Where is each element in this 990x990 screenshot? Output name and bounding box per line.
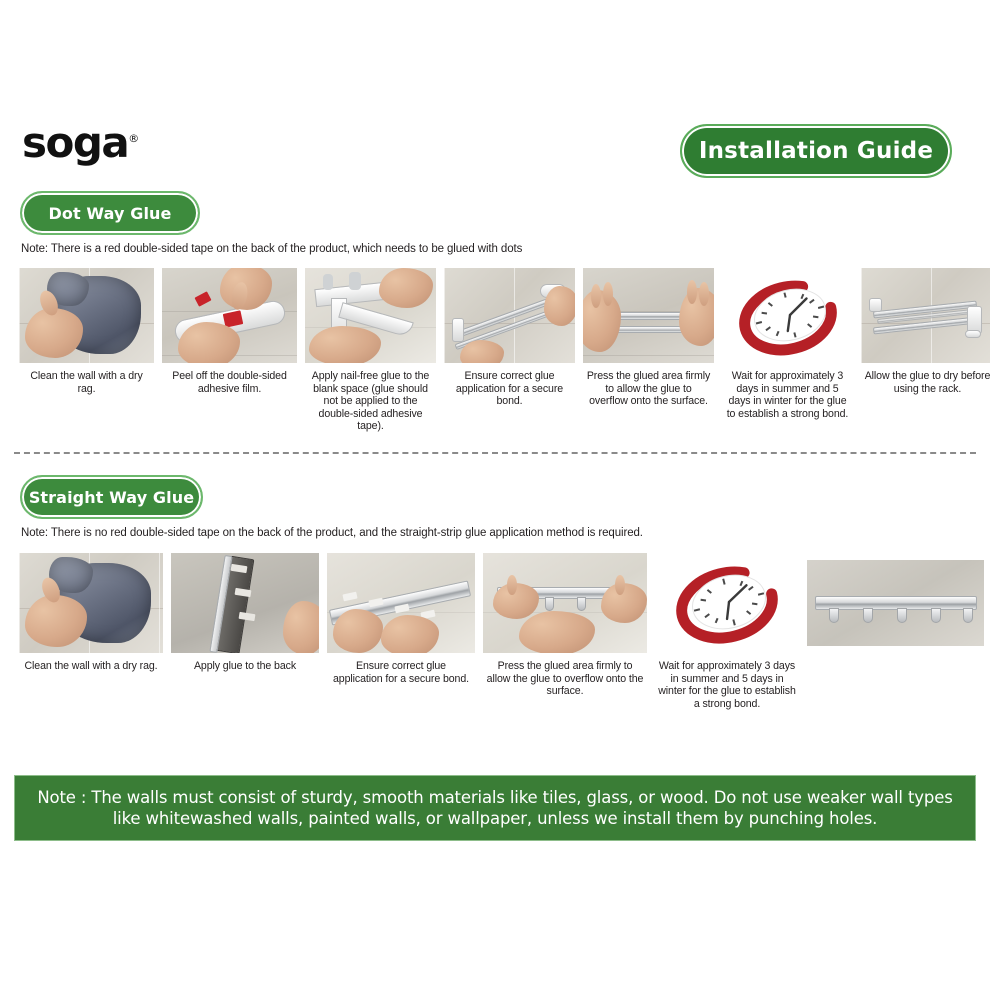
step-strip-dot-way-glue: Clean the wall with a dry rag. Peel off … (19, 268, 990, 433)
step-caption: Allow the glue to dry before using the r… (861, 363, 990, 395)
step-image-clean-wall (19, 268, 154, 363)
step-image-peel-tape (162, 268, 297, 363)
step-item: Wait for approximately 3 days in summer … (655, 553, 799, 710)
step-item: Ensure correct glue application for a se… (444, 268, 575, 433)
footer-warning-banner: Note : The walls must consist of sturdy,… (14, 775, 976, 841)
step-image-finished-hook-rail (807, 560, 984, 646)
step-item: Apply glue to the back (171, 553, 319, 710)
step-item: Clean the wall with a dry rag. (19, 553, 163, 710)
step-image-wait-clock (722, 268, 853, 363)
step-caption: Press the glued area firmly to allow the… (483, 653, 647, 698)
step-image-glued-rail (327, 553, 475, 653)
step-caption: Peel off the double-sided adhesive film. (162, 363, 297, 395)
step-image-apply-glue (305, 268, 436, 363)
page-header: soga® Installation Guide (0, 108, 990, 186)
step-item: Wait for approximately 3 days in summer … (722, 268, 853, 433)
step-image-glue-on-rail-back (171, 553, 319, 653)
step-caption: Ensure correct glue application for a se… (327, 653, 475, 685)
step-item: Allow the glue to dry before using the r… (861, 268, 990, 433)
step-image-wait-clock (655, 553, 799, 653)
step-strip-straight-way-glue: Clean the wall with a dry rag. Apply glu… (19, 553, 984, 710)
step-caption: Wait for approximately 3 days in summer … (722, 363, 853, 420)
section-note-dot-way-glue: Note: There is a red double-sided tape o… (21, 243, 522, 255)
section-pill-straight-way-glue: Straight Way Glue (20, 475, 203, 519)
installation-guide-page: soga® Installation Guide Dot Way Glue No… (0, 0, 990, 990)
section-pill-label: Straight Way Glue (29, 488, 194, 507)
clock-icon (722, 268, 853, 363)
clock-icon (655, 553, 799, 653)
page-title: Installation Guide (699, 138, 933, 164)
step-caption (807, 646, 984, 653)
step-item: Ensure correct glue application for a se… (327, 553, 475, 710)
logo-text: soga (22, 118, 128, 167)
step-caption: Clean the wall with a dry rag. (19, 363, 154, 395)
section-pill-dot-way-glue: Dot Way Glue (20, 191, 200, 235)
step-caption: Apply glue to the back (171, 653, 319, 673)
soga-logo: soga® (22, 122, 139, 164)
step-image-finished-rack (861, 268, 990, 363)
step-item (807, 553, 984, 710)
footer-note-text: Note : The walls must consist of sturdy,… (33, 787, 957, 829)
installation-guide-title-badge: Installation Guide (680, 124, 952, 178)
registered-trademark-icon: ® (128, 132, 139, 145)
section-pill-label: Dot Way Glue (49, 204, 172, 223)
step-item: Peel off the double-sided adhesive film. (162, 268, 297, 433)
step-image-press-hook-rail (483, 553, 647, 653)
step-item: Press the glued area firmly to allow the… (483, 553, 647, 710)
step-image-position-bar (444, 268, 575, 363)
step-item: Press the glued area firmly to allow the… (583, 268, 714, 433)
step-caption: Apply nail-free glue to the blank space … (305, 363, 436, 433)
step-item: Clean the wall with a dry rag. (19, 268, 154, 433)
step-image-press-firmly (583, 268, 714, 363)
section-note-straight-way-glue: Note: There is no red double-sided tape … (21, 527, 643, 539)
step-caption: Wait for approximately 3 days in summer … (655, 653, 799, 710)
section-divider (14, 452, 976, 454)
step-caption: Clean the wall with a dry rag. (19, 653, 163, 673)
step-item: Apply nail-free glue to the blank space … (305, 268, 436, 433)
step-caption: Ensure correct glue application for a se… (444, 363, 575, 408)
step-image-clean-wall (19, 553, 163, 653)
step-caption: Press the glued area firmly to allow the… (583, 363, 714, 408)
